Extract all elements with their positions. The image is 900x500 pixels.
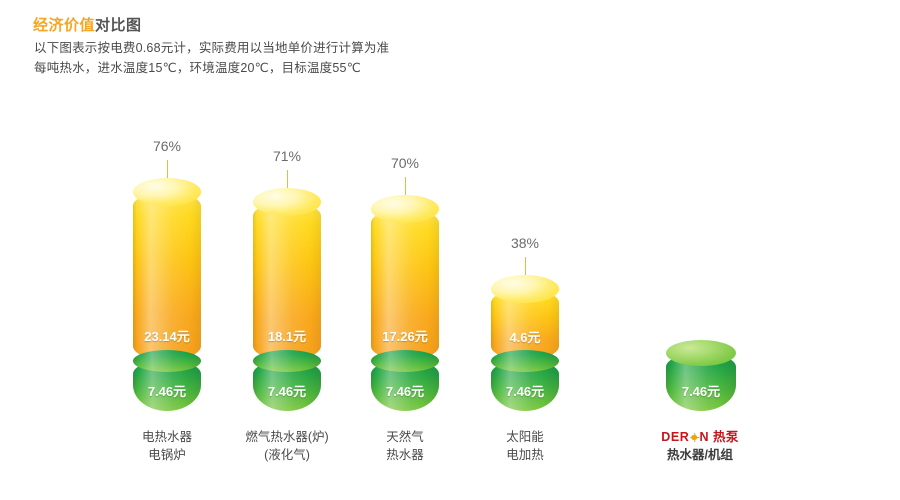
category-label-line1: 太阳能	[506, 430, 544, 444]
category-label-line2: 电加热	[506, 446, 544, 464]
cylinder-top-cap	[371, 195, 439, 223]
category-label: 天然气 热水器	[386, 428, 424, 464]
cylinder-top-cap	[666, 340, 736, 366]
brand-name-after: N	[699, 430, 709, 444]
category-label: 电热水器 电锅炉	[142, 428, 192, 464]
category-label-line2: 电锅炉	[142, 446, 192, 464]
category-label-line1: 燃气热水器(炉)	[245, 430, 328, 444]
value-label-base: 7.46元	[371, 381, 439, 400]
brand-name-cn: 热泵	[713, 430, 739, 444]
category-label-line2: (液化气)	[245, 446, 328, 464]
cylinder-bar: 23.14元 7.46元	[133, 178, 201, 411]
percent-label: 71%	[273, 148, 301, 164]
cylinder-bar: 4.6元 7.46元	[491, 275, 559, 411]
segment-base-cost-cap	[133, 350, 201, 372]
percent-label: 38%	[511, 235, 539, 251]
value-label-energy: 18.1元	[253, 326, 321, 345]
chart-plot-area: 76% 23.14元 7.46元 电热水器 电锅炉 7	[0, 0, 900, 500]
segment-base-cost-cap	[491, 350, 559, 372]
value-label-base: 7.46元	[666, 381, 736, 400]
category-label: 燃气热水器(炉) (液化气)	[245, 428, 328, 464]
cylinder-bar: 18.1元 7.46元	[253, 188, 321, 411]
category-label: 太阳能 电加热	[506, 428, 544, 464]
percent-label: 70%	[391, 155, 419, 171]
cylinder-top-cap	[491, 275, 559, 303]
chart-page: 经济价值对比图 以下图表示按电费0.68元计，实际费用以当地单价进行计算为准 每…	[0, 0, 900, 500]
category-label-line2: 热水器	[386, 446, 424, 464]
segment-base-cost-cap	[253, 350, 321, 372]
cylinder-top-cap	[133, 178, 201, 206]
value-label-base: 7.46元	[133, 381, 201, 400]
value-label-energy: 23.14元	[133, 326, 201, 345]
value-label-base: 7.46元	[491, 381, 559, 400]
brand-name-before: DER	[661, 430, 689, 444]
brand-label-line2: 热水器/机组	[661, 446, 739, 464]
value-label-base: 7.46元	[253, 381, 321, 400]
sun-icon	[690, 433, 699, 442]
cylinder-top-cap	[253, 188, 321, 216]
segment-base-cost-cap	[371, 350, 439, 372]
brand-label-line1: DERN 热泵	[661, 428, 739, 446]
category-label-line1: 电热水器	[142, 430, 192, 444]
value-label-energy: 17.26元	[371, 326, 439, 345]
brand-label: DERN 热泵 热水器/机组	[661, 428, 739, 464]
percent-label: 76%	[153, 138, 181, 154]
category-label-line1: 天然气	[386, 430, 424, 444]
value-label-energy: 4.6元	[491, 327, 559, 346]
cylinder-bar: 7.46元	[666, 340, 736, 411]
cylinder-bar: 17.26元 7.46元	[371, 195, 439, 411]
